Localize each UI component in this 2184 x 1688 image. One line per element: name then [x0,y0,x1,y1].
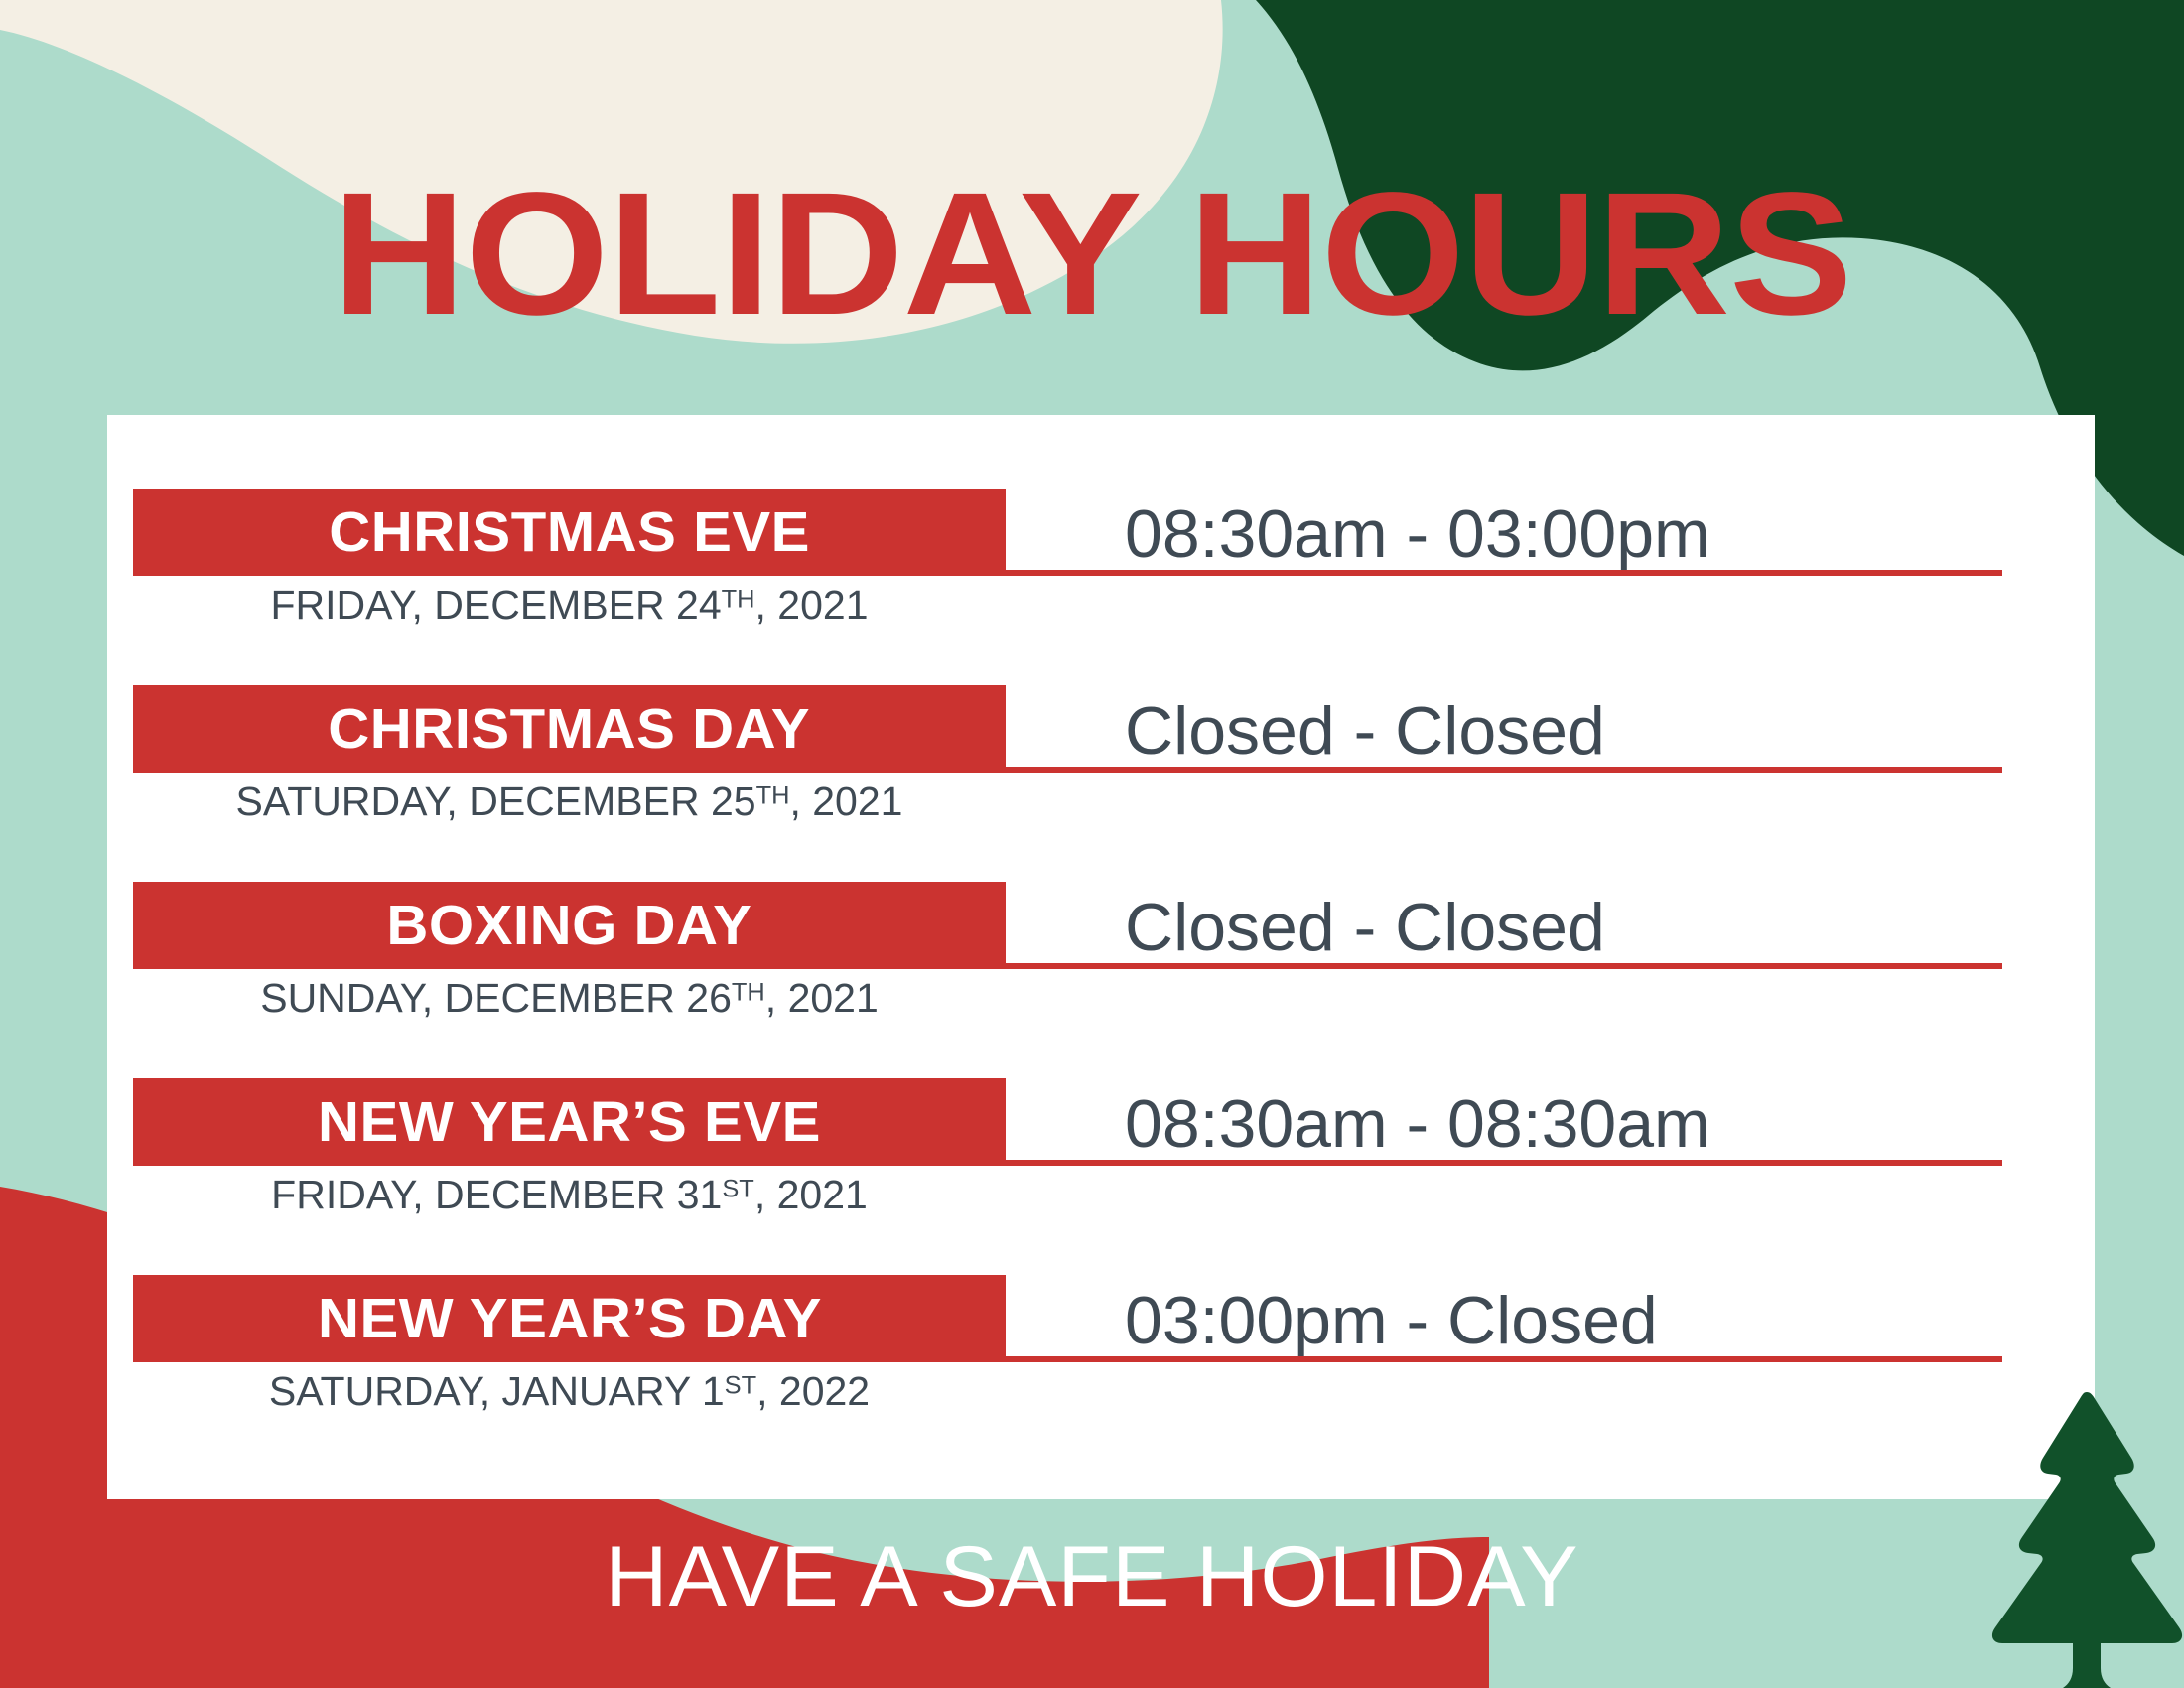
row-underline [1006,1356,2002,1362]
holiday-name: NEW YEAR’S EVE [318,1094,821,1151]
holiday-name: CHRISTMAS DAY [329,701,811,758]
holiday-date-prefix: SATURDAY, JANUARY 1 [269,1368,725,1414]
row-underline [1006,767,2002,773]
holiday-date-prefix: SUNDAY, DECEMBER 26 [260,975,732,1021]
holiday-date-suffix: , 2021 [789,778,902,824]
holiday-name-band: NEW YEAR’S EVE [133,1078,1006,1166]
holiday-date-ordinal: TH [732,979,765,1007]
holiday-name: BOXING DAY [386,898,751,954]
table-row: NEW YEAR’S DAY SATURDAY, JANUARY 1ST, 20… [107,1275,2095,1470]
holiday-name-band: BOXING DAY [133,882,1006,969]
holiday-name-band: CHRISTMAS DAY [133,685,1006,773]
holiday-date-suffix: , 2021 [754,1172,868,1217]
holiday-date-ordinal: TH [722,586,755,614]
table-row: NEW YEAR’S EVE FRIDAY, DECEMBER 31ST, 20… [107,1078,2095,1273]
holiday-name: NEW YEAR’S DAY [318,1291,822,1347]
holiday-date-prefix: FRIDAY, DECEMBER 31 [271,1172,722,1217]
holiday-date: FRIDAY, DECEMBER 31ST, 2021 [133,1172,1006,1218]
holiday-name: CHRISTMAS EVE [329,504,810,561]
holiday-date-prefix: SATURDAY, DECEMBER 25 [236,778,756,824]
holiday-date-prefix: FRIDAY, DECEMBER 24 [270,582,721,628]
row-underline [1006,570,2002,576]
holiday-date-ordinal: TH [756,782,790,810]
holiday-date-ordinal: ST [725,1372,756,1400]
holiday-date-suffix: , 2022 [756,1368,870,1414]
holiday-date: SUNDAY, DECEMBER 26TH, 2021 [133,975,1006,1022]
page-title: HOLIDAY HOURS [0,167,2184,342]
holiday-name-band: CHRISTMAS EVE [133,489,1006,576]
holiday-date: SATURDAY, DECEMBER 25TH, 2021 [133,778,1006,825]
row-underline [1006,963,2002,969]
table-row: CHRISTMAS DAY SATURDAY, DECEMBER 25TH, 2… [107,685,2095,880]
table-row: BOXING DAY SUNDAY, DECEMBER 26TH, 2021 C… [107,882,2095,1076]
schedule-card: CHRISTMAS EVE FRIDAY, DECEMBER 24TH, 202… [107,415,2095,1499]
footer-message: HAVE A SAFE HOLIDAY [0,1534,2184,1619]
table-row: CHRISTMAS EVE FRIDAY, DECEMBER 24TH, 202… [107,489,2095,683]
holiday-date-suffix: , 2021 [755,582,869,628]
holiday-date: SATURDAY, JANUARY 1ST, 2022 [133,1368,1006,1415]
holiday-date-suffix: , 2021 [765,975,879,1021]
holiday-hours-poster: HOLIDAY HOURS CHRISTMAS EVE FRIDAY, DECE… [0,0,2184,1688]
holiday-date: FRIDAY, DECEMBER 24TH, 2021 [133,582,1006,629]
holiday-name-band: NEW YEAR’S DAY [133,1275,1006,1362]
row-underline [1006,1160,2002,1166]
holiday-date-ordinal: ST [722,1176,753,1203]
